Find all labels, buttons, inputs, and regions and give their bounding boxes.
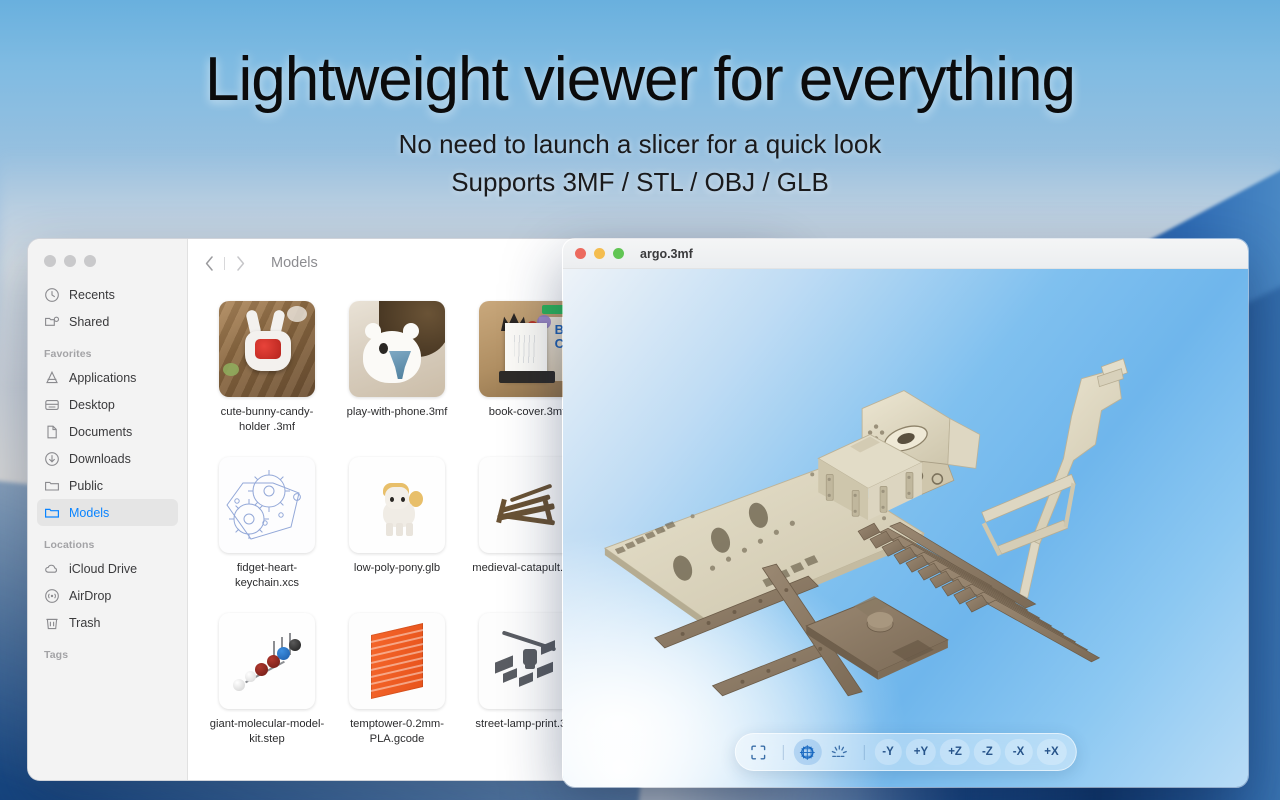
sidebar-item-label: Trash [69,616,101,630]
lighting-button[interactable] [825,739,853,765]
file-label: low-poly-pony.glb [332,561,462,576]
axis-button-neg-z[interactable]: -Z [974,739,1001,765]
sidebar-header-locations: Locations [28,526,187,555]
navigation-buttons [194,250,255,276]
finder-sidebar: Recents Shared Favorites Applications [28,239,188,780]
hero-sub-line-2: Supports 3MF / STL / OBJ / GLB [0,164,1280,202]
file-item[interactable]: low-poly-pony.glb [332,453,462,609]
model-viewer-window[interactable]: argo.3mf [562,238,1249,788]
part-mast-frame [982,359,1128,598]
file-label: giant-molecular-model-kit.step [202,717,332,746]
finder-traffic-lights [28,239,187,281]
sidebar-item-icloud-drive[interactable]: iCloud Drive [37,555,178,582]
close-button[interactable] [44,255,56,267]
file-label: fidget-heart-keychain.xcs [202,561,332,590]
sidebar-header-tags: Tags [28,636,187,665]
file-item[interactable]: fidget-heart-keychain.xcs [202,453,332,609]
sidebar-header-favorites: Favorites [28,335,187,364]
file-thumbnail [219,457,315,553]
file-label: temptower-0.2mm-PLA.gcode [332,717,462,746]
folder-icon [44,505,60,521]
desktop-icon [44,397,60,413]
sidebar-item-label: Models [69,506,109,520]
sidebar-locations-group: iCloud Drive AirDrop Trash [28,555,187,636]
viewer-canvas[interactable]: -Y +Y +Z -Z -X +X [563,269,1248,787]
axis-button-pos-z[interactable]: +Z [940,739,970,765]
applications-icon [44,370,60,386]
file-thumbnail [349,301,445,397]
file-thumbnail [349,613,445,709]
close-button[interactable] [575,248,586,259]
sidebar-item-applications[interactable]: Applications [37,364,178,391]
viewer-titlebar: argo.3mf [563,239,1248,269]
axis-button-neg-x[interactable]: -X [1005,739,1033,765]
sidebar-item-label: Downloads [69,452,131,466]
file-item[interactable]: cute-bunny-candy-holder .3mf [202,297,332,453]
file-thumbnail [349,457,445,553]
file-label: cute-bunny-candy-holder .3mf [202,405,332,434]
forward-button[interactable] [225,250,255,276]
sidebar-item-label: Desktop [69,398,115,412]
document-icon [44,424,60,440]
hero-headline: Lightweight viewer for everything [0,48,1280,112]
sidebar-item-label: Shared [69,315,109,329]
sidebar-item-shared[interactable]: Shared [37,308,178,335]
grid-toggle-button[interactable] [793,739,821,765]
file-item[interactable]: temptower-0.2mm-PLA.gcode [332,609,462,765]
sidebar-item-recents[interactable]: Recents [37,281,178,308]
shared-folder-icon [44,314,60,330]
file-thumbnail [219,301,315,397]
hero-sub-line-1: No need to launch a slicer for a quick l… [0,126,1280,164]
file-thumbnail [219,613,315,709]
sidebar-top-group: Recents Shared [28,281,187,335]
sidebar-item-label: Applications [69,371,136,385]
sidebar-item-models[interactable]: Models [37,499,178,526]
sidebar-item-label: Documents [69,425,132,439]
file-item[interactable]: play-with-phone.3mf [332,297,462,453]
axis-button-pos-y[interactable]: +Y [906,739,936,765]
file-label: play-with-phone.3mf [332,405,462,420]
toolbar-divider [782,745,783,760]
folder-icon [44,478,60,494]
sidebar-item-label: Public [69,479,103,493]
axis-button-pos-x[interactable]: +X [1036,739,1066,765]
model-scene [563,269,1248,787]
file-thumbnail [479,457,575,553]
back-button[interactable] [194,250,224,276]
sidebar-item-desktop[interactable]: Desktop [37,391,178,418]
toolbar-divider [863,745,864,760]
hero-subheadline: No need to launch a slicer for a quick l… [0,126,1280,201]
file-item[interactable]: giant-molecular-model-kit.step [202,609,332,765]
sidebar-item-trash[interactable]: Trash [37,609,178,636]
trash-icon [44,615,60,631]
sidebar-item-label: Recents [69,288,115,302]
fit-to-screen-icon [751,745,766,760]
path-title: Models [271,255,318,271]
sidebar-favorites-group: Applications Desktop Documents Downloads [28,364,187,526]
file-thumbnail [479,613,575,709]
file-thumbnail: BoCo [479,301,575,397]
minimize-button[interactable] [594,248,605,259]
clock-icon [44,287,60,303]
viewer-toolbar: -Y +Y +Z -Z -X +X [734,733,1076,771]
axis-button-neg-y[interactable]: -Y [874,739,902,765]
minimize-button[interactable] [64,255,76,267]
sidebar-item-label: AirDrop [69,589,111,603]
sidebar-item-public[interactable]: Public [37,472,178,499]
viewer-title: argo.3mf [640,247,693,261]
maximize-button[interactable] [613,248,624,259]
download-icon [44,451,60,467]
sidebar-item-airdrop[interactable]: AirDrop [37,582,178,609]
sidebar-item-label: iCloud Drive [69,562,137,576]
airdrop-icon [44,588,60,604]
hero-section: Lightweight viewer for everything No nee… [0,48,1280,202]
cloud-icon [44,561,60,577]
sidebar-item-downloads[interactable]: Downloads [37,445,178,472]
lighting-icon [831,745,848,760]
maximize-button[interactable] [84,255,96,267]
fit-to-screen-button[interactable] [744,739,772,765]
sidebar-item-documents[interactable]: Documents [37,418,178,445]
grid-toggle-icon [799,744,816,761]
